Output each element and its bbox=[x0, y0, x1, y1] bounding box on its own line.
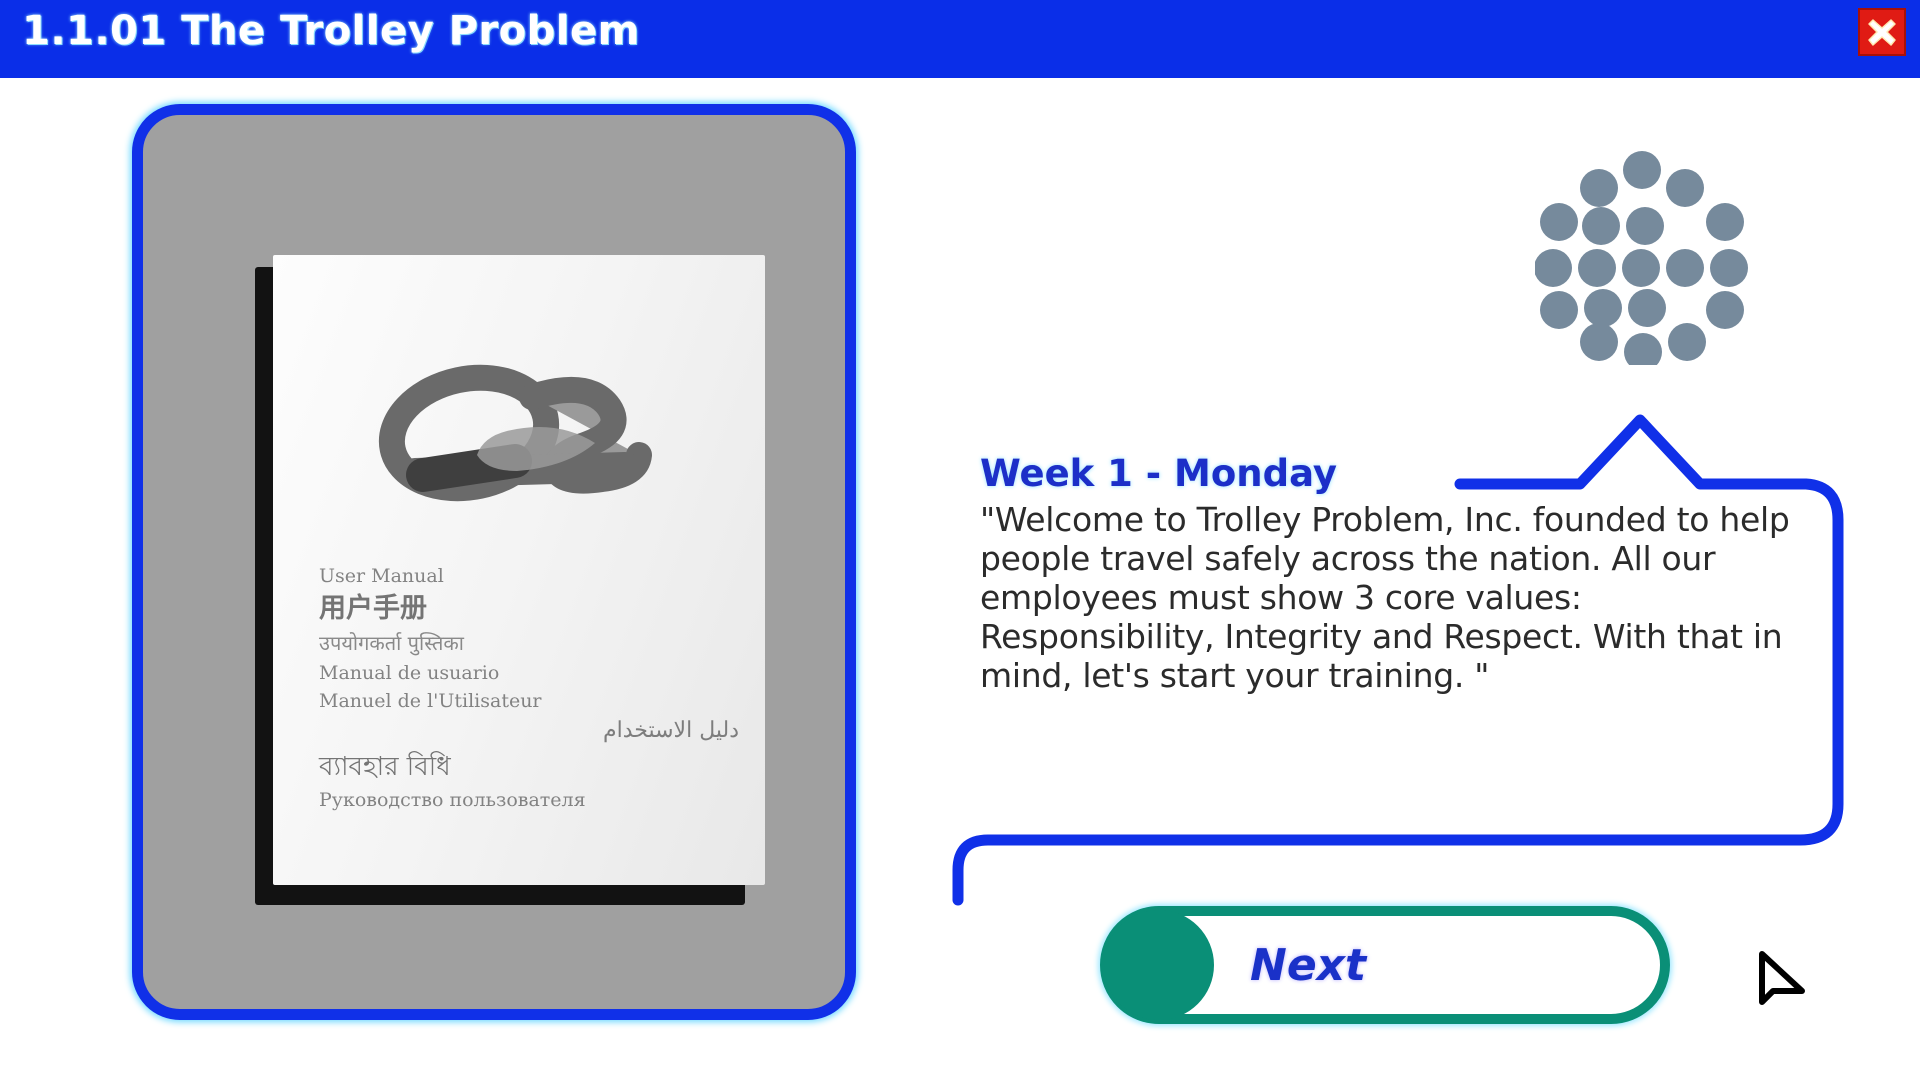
book-title-es: Manual de usuario bbox=[319, 664, 739, 683]
user-manual-book: User Manual 用户手册 उपयोगकर्ता पुस्तिका Man… bbox=[255, 255, 765, 905]
next-button-label: Next bbox=[1250, 940, 1366, 991]
book-title-ar: دليل الاستخدام bbox=[319, 720, 739, 742]
book-title-ru: Руководство пользователя bbox=[319, 791, 739, 810]
window-titlebar: 1.1.01 The Trolley Problem bbox=[0, 0, 1920, 78]
dialogue-heading: Week 1 - Monday bbox=[980, 452, 1337, 495]
book-title-zh: 用户手册 bbox=[319, 595, 739, 622]
dialogue-body: "Welcome to Trolley Problem, Inc. founde… bbox=[980, 500, 1810, 695]
trolley-track-logo-icon bbox=[357, 345, 657, 525]
close-button[interactable] bbox=[1858, 8, 1906, 56]
page-title: 1.1.01 The Trolley Problem bbox=[22, 8, 640, 54]
book-title-hi: उपयोगकर्ता पुस्तिका bbox=[319, 633, 739, 653]
user-manual-illustration-panel: User Manual 用户手册 उपयोगकर्ता पुस्तिका Man… bbox=[132, 104, 856, 1020]
next-button[interactable]: Next bbox=[1100, 906, 1670, 1024]
close-x-icon bbox=[1860, 10, 1904, 54]
book-cover: User Manual 用户手册 उपयोगकर्ता पुस्तिका Man… bbox=[273, 255, 765, 885]
next-button-knob bbox=[1104, 910, 1214, 1020]
book-title-list: User Manual 用户手册 उपयोगकर्ता पुस्तिका Man… bbox=[319, 567, 739, 819]
book-title-en: User Manual bbox=[319, 567, 739, 586]
mouse-pointer-icon bbox=[1756, 950, 1808, 1010]
book-title-fr: Manuel de l'Utilisateur bbox=[319, 692, 739, 711]
book-title-bn: ব্যাবহার বিধি bbox=[319, 754, 739, 780]
dot-cluster-logo bbox=[1535, 150, 1750, 365]
